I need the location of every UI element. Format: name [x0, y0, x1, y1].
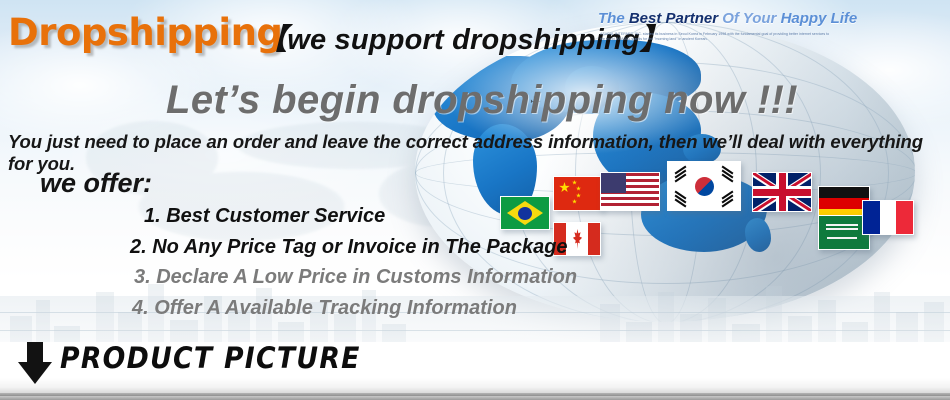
united-kingdom-flag: [752, 172, 812, 212]
logo-word-happy-life: Happy Life: [781, 10, 858, 27]
offer-item-2: 2. No Any Price Tag or Invoice in The Pa…: [130, 236, 568, 259]
brazil-flag: [500, 196, 550, 230]
down-arrow-icon: [18, 342, 52, 384]
logo-wordmark: The Best Partner Of Your Happy Life: [598, 10, 833, 27]
logo-fine-print: ASADAL INTERNET, INC. started its busine…: [600, 32, 832, 42]
logo-word-best-partner: Best Partner: [629, 10, 718, 27]
product-picture-label: PRODUCT PICTURE: [60, 341, 361, 375]
we-offer-label: we offer:: [40, 168, 152, 199]
logo-word-of-your: Of Your: [722, 10, 776, 27]
usa-flag: [600, 172, 660, 211]
logo-word-the: The: [598, 10, 625, 27]
main-headline: Let’s begin dropshipping now !!!: [166, 78, 798, 123]
brand-title: Dropshipping: [8, 11, 282, 54]
china-flag: [553, 176, 603, 211]
offer-item-4: 4. Offer A Available Tracking Informatio…: [132, 297, 517, 320]
dropshipping-banner: Dropshipping 【we support dropshipping】 T…: [0, 0, 950, 400]
france-flag: [862, 200, 914, 235]
asadal-logo: The Best Partner Of Your Happy Life ASAD…: [598, 10, 833, 54]
offer-item-1: 1. Best Customer Service: [144, 205, 385, 228]
offer-item-3: 3. Declare A Low Price in Customs Inform…: [134, 266, 577, 289]
footer-divider: [0, 393, 950, 396]
